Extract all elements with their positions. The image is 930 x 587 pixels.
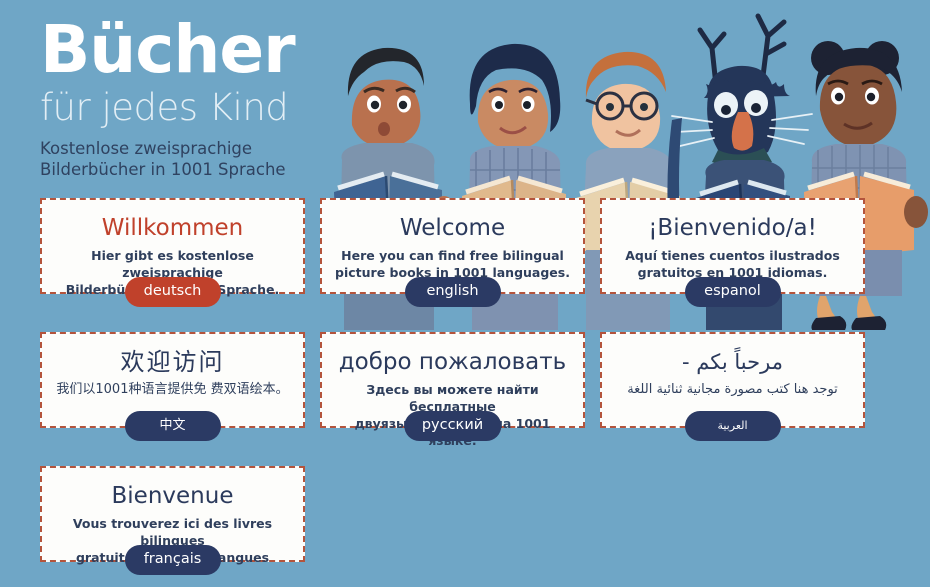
card-text-line-1: Aquí tienes cuentos ilustrados bbox=[614, 247, 851, 264]
card-text-espanol: Aquí tienes cuentos ilustrados gratuitos… bbox=[614, 247, 851, 281]
card-title-arabic: مرحباً بكم - bbox=[614, 348, 851, 376]
header-block: Bücher für jedes Kind Kostenlose zweispr… bbox=[40, 14, 330, 180]
language-card-english[interactable]: Welcome Here you can find free bilingual… bbox=[320, 198, 585, 294]
language-button-deutsch[interactable]: deutsch bbox=[125, 277, 221, 307]
card-text-chinese: 我们以1001种语言提供免 费双语绘本。 bbox=[54, 381, 291, 398]
language-card-russian[interactable]: добро пожаловать Здесь вы можете найти б… bbox=[320, 332, 585, 428]
card-title-espanol: ¡Bienvenido/a! bbox=[614, 214, 851, 242]
language-button-russian[interactable]: русский bbox=[404, 411, 501, 441]
card-text-line-1: Vous trouverez ici des livres bilingues bbox=[54, 515, 291, 549]
page-title: Bücher bbox=[40, 14, 330, 86]
card-text-line-1: توجد هنا كتب مصورة مجانية ثنائية اللغة bbox=[614, 381, 851, 398]
card-title-francais: Bienvenue bbox=[54, 482, 291, 510]
card-text-english: Here you can find free bilingual picture… bbox=[334, 247, 571, 281]
language-button-chinese[interactable]: 中文 bbox=[125, 411, 221, 441]
card-text-arabic: توجد هنا كتب مصورة مجانية ثنائية اللغة bbox=[614, 381, 851, 398]
language-button-francais[interactable]: français bbox=[125, 545, 221, 575]
card-title-deutsch: Willkommen bbox=[54, 214, 291, 242]
language-card-arabic[interactable]: مرحباً بكم - توجد هنا كتب مصورة مجانية ث… bbox=[600, 332, 865, 428]
language-button-espanol[interactable]: espanol bbox=[685, 277, 781, 307]
language-card-deutsch[interactable]: Willkommen Hier gibt es kostenlose zweis… bbox=[40, 198, 305, 294]
page-subtitle: für jedes Kind bbox=[40, 86, 330, 130]
card-title-chinese: 欢迎访问 bbox=[54, 348, 291, 376]
card-text-line-1: Here you can find free bilingual bbox=[334, 247, 571, 264]
tagline-line-2: Bilderbücher in 1001 Sprache bbox=[40, 159, 330, 180]
language-cards-grid: Willkommen Hier gibt es kostenlose zweis… bbox=[40, 198, 898, 562]
language-card-francais[interactable]: Bienvenue Vous trouverez ici des livres … bbox=[40, 466, 305, 562]
language-button-arabic[interactable]: العربية bbox=[685, 411, 781, 441]
language-card-chinese[interactable]: 欢迎访问 我们以1001种语言提供免 费双语绘本。 中文 bbox=[40, 332, 305, 428]
card-title-russian: добро пожаловать bbox=[334, 348, 571, 376]
card-title-english: Welcome bbox=[334, 214, 571, 242]
language-card-espanol[interactable]: ¡Bienvenido/a! Aquí tienes cuentos ilust… bbox=[600, 198, 865, 294]
page-tagline: Kostenlose zweisprachige Bilderbücher in… bbox=[40, 138, 330, 180]
card-text-line-1: Здесь вы можете найти бесплатные bbox=[334, 381, 571, 415]
card-text-line-1: Hier gibt es kostenlose zweisprachige bbox=[54, 247, 291, 281]
language-button-english[interactable]: english bbox=[405, 277, 501, 307]
tagline-line-1: Kostenlose zweisprachige bbox=[40, 138, 330, 159]
card-text-line-1: 我们以1001种语言提供免 费双语绘本。 bbox=[54, 381, 291, 398]
